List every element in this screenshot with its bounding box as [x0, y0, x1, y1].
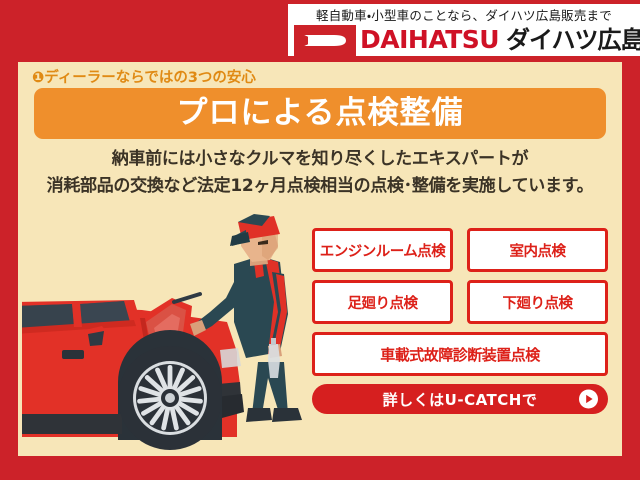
brand-jp-wordmark: ダイハツ広島販売	[506, 25, 640, 56]
section-label: ❶ディーラーならではの3つの安心	[32, 66, 256, 87]
inspection-chip-label: 室内点検	[510, 240, 566, 261]
brand-latin-wordmark: DAIHATSU	[360, 24, 499, 55]
daihatsu-d-mark-icon	[294, 25, 356, 56]
lead-line-2: 消耗部品の交換など法定12ヶ月点検相当の点検･整備を実施しています。	[28, 173, 612, 200]
u-catch-cta-label: 詳しくはU-CATCHで	[383, 389, 538, 410]
inspection-chip-suspension[interactable]: 足廻り点検	[312, 280, 453, 324]
headline-text: プロによる点検整備	[34, 88, 606, 139]
inspection-chip-obd[interactable]: 車載式故障診断装置点検	[312, 332, 608, 376]
lead-line-1: 納車前には小さなクルマを知り尽くしたエキスパートが	[28, 146, 612, 173]
inspection-chip-label: 車載式故障診断装置点検	[380, 344, 540, 365]
inspection-chip-label: 下廻り点検	[503, 292, 573, 313]
inspection-row-3: 車載式故障診断装置点検	[312, 332, 608, 376]
header-tagline: 軽自動車・小型車のことなら、ダイハツ広島販売まで	[294, 6, 634, 25]
inspection-chip-interior[interactable]: 室内点検	[467, 228, 608, 272]
inspection-chip-underbody[interactable]: 下廻り点検	[467, 280, 608, 324]
dealer-logo-block: 軽自動車・小型車のことなら、ダイハツ広島販売まで DAIHATSU ダイハツ広島…	[288, 4, 640, 56]
play-circle-icon	[579, 390, 598, 409]
inspection-chip-label: 足廻り点検	[348, 292, 418, 313]
inspection-chip-engine-room[interactable]: エンジンルーム点検	[312, 228, 453, 272]
u-catch-cta-button[interactable]: 詳しくはU-CATCHで	[312, 384, 608, 414]
daihatsu-inspection-slide: 軽自動車・小型車のことなら、ダイハツ広島販売まで DAIHATSU ダイハツ広島…	[0, 0, 640, 480]
inspection-row-2: 足廻り点検 下廻り点検	[312, 280, 608, 324]
headline-box: プロによる点検整備	[34, 88, 606, 139]
header-bar: 軽自動車・小型車のことなら、ダイハツ広島販売まで DAIHATSU ダイハツ広島…	[0, 0, 640, 58]
content-panel: ❶ディーラーならではの3つの安心 プロによる点検整備 納車前には小さなクルマを知…	[18, 62, 622, 456]
lead-paragraph: 納車前には小さなクルマを知り尽くしたエキスパートが 消耗部品の交換など法定12ヶ…	[28, 146, 612, 200]
mechanic-inspecting-red-car-illustration	[22, 202, 322, 452]
inspection-row-1: エンジンルーム点検 室内点検	[312, 228, 608, 272]
inspection-chip-label: エンジンルーム点検	[320, 240, 446, 261]
inspection-items-grid: エンジンルーム点検 室内点検 足廻り点検 下廻り点検 車載式故障診断装置点検	[312, 228, 608, 414]
brand-logo-row: DAIHATSU ダイハツ広島販売	[288, 25, 640, 56]
